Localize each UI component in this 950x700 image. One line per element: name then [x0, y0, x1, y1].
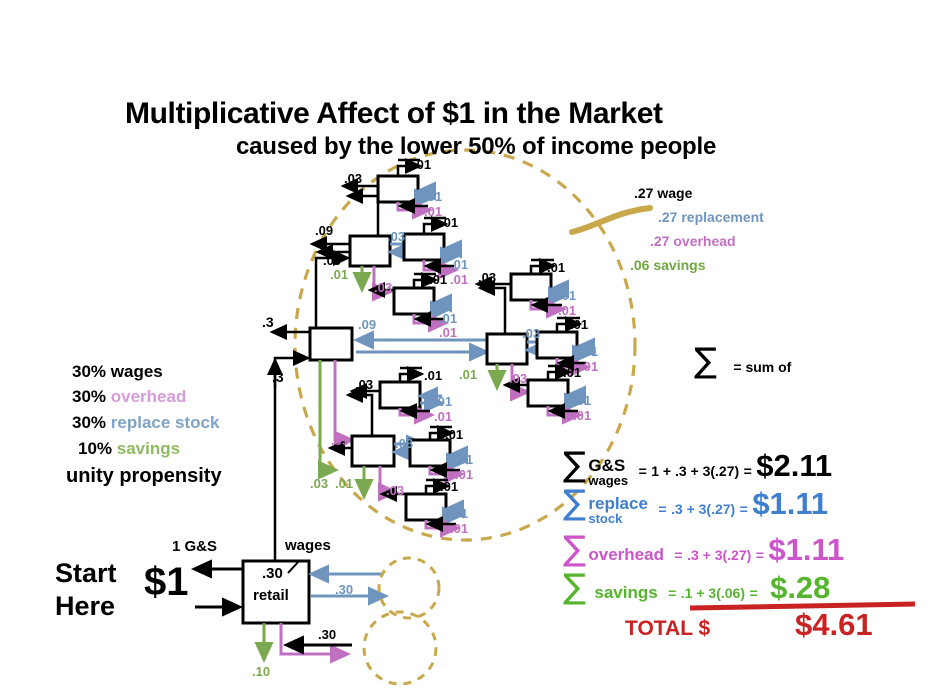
start-here-line2: Here [55, 593, 115, 620]
equation-wages-eq1: = [639, 463, 647, 479]
equation-savings-eq1: = [668, 585, 676, 601]
flow-label-r-n2-left: .03 [522, 327, 540, 340]
flow-label-l-n2-left: .03 [395, 437, 413, 450]
flow-label-u-n2-right: .01 [450, 258, 468, 271]
callout-replacement-value: .27 [658, 209, 677, 225]
node-lower-mid [352, 436, 394, 466]
equation-replace-stock-label: replace [588, 495, 648, 512]
root-overhead-line [335, 360, 352, 440]
legend-pct-replace-stock: 30% [72, 413, 106, 432]
callout-wage: .27 wage [634, 186, 692, 200]
retail-out-right: .30 [335, 583, 353, 596]
equation-overhead: ∑ overhead = .3 + 3(.27) = $1.11 [563, 532, 844, 566]
callout-connector [572, 208, 650, 232]
circle-upper-loop [379, 558, 439, 618]
sum-key-text: = sum of [733, 359, 791, 375]
callout-replacement-label: replacement [681, 209, 763, 225]
sigma-icon: ∑ [694, 341, 717, 381]
equation-overhead-sigma: ∑ [563, 529, 586, 569]
node-lower-leaf-2 [410, 440, 450, 466]
flow-label-root-in: .3 [272, 370, 284, 384]
legend-label-replace-stock: replace stock [111, 413, 220, 432]
retail-name: retail [253, 588, 289, 603]
flow-label-root-blue: .09 [358, 318, 376, 331]
callout-savings-label: savings [653, 257, 705, 273]
total-label: TOTAL $ [625, 618, 710, 639]
equation-replace-stock-sublabel: stock [588, 512, 648, 525]
equation-wages-eq2: = [744, 463, 752, 479]
legend-pct-overhead: 30% [72, 387, 106, 406]
retail-overhead-out [281, 623, 348, 654]
flow-label-r-n1-left: .03 [478, 271, 496, 284]
sum-key: ∑ = sum of [694, 344, 791, 378]
legend-row-wages: 30% wages [72, 363, 163, 380]
flow-label-l-n3-left: .03 [386, 484, 404, 497]
flow-label-l-n0-left: .09 [331, 434, 349, 447]
callout-replacement: .27 replacement [658, 210, 764, 224]
equation-savings-label: savings [594, 583, 657, 602]
flow-label-l-n2-right: .01 [455, 453, 473, 466]
equation-wages-sublabel: wages [588, 474, 628, 487]
equation-wages-sigma: ∑ [563, 445, 586, 485]
flow-label-r-n3-left: .03 [509, 372, 527, 385]
wages-label: wages [285, 538, 331, 553]
flow-label-l-n0-sav1: .03 [310, 477, 328, 490]
flow-label-u-n1-left: .03 [344, 172, 362, 185]
flow-label-u-n2-top: .01 [440, 216, 458, 229]
flow-label-l-n0-sav2: .01 [335, 477, 353, 490]
flow-label-r-n1-top: .01 [547, 261, 565, 274]
callout-overhead-label: overhead [673, 233, 735, 249]
node-lower-leaf-3 [406, 494, 446, 520]
node-upper-leaf-1 [378, 176, 418, 202]
equation-replace-stock-sigma: ∑ [563, 483, 586, 523]
node-upper-leaf-2 [404, 234, 444, 260]
flow-label-u-n1-top: .01 [413, 158, 431, 171]
legend-label-overhead: overhead [111, 387, 187, 406]
flow-label-u-n2-left: .03 [387, 230, 405, 243]
legend-row-savings: 10% savings [78, 440, 180, 457]
retail-out-bottom: .30 [318, 628, 336, 641]
node-right-mid [487, 334, 527, 364]
equation-wages-value: $2.11 [756, 448, 832, 483]
start-amount: $1 [144, 562, 189, 602]
flow-label-r-n0-sav: .01 [459, 368, 477, 381]
total-value: $4.61 [795, 609, 873, 640]
node-right-leaf-3 [528, 380, 568, 406]
circle-lower-loop [364, 612, 436, 684]
equation-savings-expr: .1 + 3(.06) [681, 585, 745, 601]
diagram-canvas: Multiplicative Affect of $1 in the Marke… [0, 0, 950, 700]
flow-label-u-n0-left2: .09 [323, 254, 341, 267]
equation-overhead-value: $1.11 [768, 532, 844, 567]
equation-replace-stock-eq2: = [740, 501, 748, 517]
page-title: Multiplicative Affect of $1 in the Marke… [125, 99, 663, 129]
callout-overhead: .27 overhead [650, 234, 736, 248]
equation-wages: ∑ G&S wages = 1 + .3 + 3(.27) = $2.11 [563, 448, 832, 487]
node-lower-leaf-1 [380, 382, 420, 408]
legend-label-savings: savings [117, 439, 180, 458]
equation-wages-label: G&S [588, 457, 628, 474]
flow-label-l-n1-right: .01 [434, 395, 452, 408]
flow-label-l-n1-top: .01 [424, 369, 442, 382]
flow-label-u-n3-left: .03 [374, 281, 392, 294]
equation-replace-stock-value: $1.11 [752, 486, 828, 521]
equation-savings-value: $.28 [770, 570, 830, 605]
equation-overhead-eq2: = [756, 547, 764, 563]
flow-label-l-n3-bot: .01 [450, 522, 468, 535]
flow-label-u-n0-sav: .01 [330, 268, 348, 281]
flow-label-u-n3-bot: .01 [439, 326, 457, 339]
retail-savings-label: .10 [252, 665, 270, 678]
root-right-blue-link [356, 340, 487, 352]
equation-replace-stock-eq1: = [658, 501, 666, 517]
node-upper-leaf-3 [394, 288, 434, 314]
flow-label-l-n1-left: .03 [355, 378, 373, 391]
equation-wages-expr: 1 + .3 + 3(.27) [651, 463, 739, 479]
equation-savings-eq2: = [749, 585, 757, 601]
equation-replace-stock: ∑ replace stock = .3 + 3(.27) = $1.11 [563, 486, 828, 525]
flow-label-l-n3-right: .01 [450, 507, 468, 520]
legend-row-overhead: 30% overhead [72, 388, 186, 405]
callout-savings: .06 savings [630, 258, 706, 272]
legend-row-replace-stock: 30% replace stock [72, 414, 219, 431]
equation-savings-sigma: ∑ [563, 567, 586, 607]
flow-label-r-n3-right: .01 [573, 394, 591, 407]
flow-label-root-out: .3 [262, 315, 274, 329]
equation-savings: ∑ savings = .1 + 3(.06) = $.28 [563, 570, 830, 604]
legend-label-wages: wages [111, 362, 163, 381]
flow-label-r-n2-top: .01 [570, 318, 588, 331]
gs-label: 1 G&S [172, 539, 217, 554]
equation-overhead-eq1: = [674, 547, 682, 563]
flow-label-u-n0-left: .09 [315, 224, 333, 237]
page-subtitle: caused by the lower 50% of income people [236, 135, 716, 159]
flow-label-l-n1-bot: .01 [434, 410, 452, 423]
callout-wage-label: wage [657, 185, 692, 201]
flow-label-r-n3-top: .01 [563, 366, 581, 379]
flow-label-u-n3-right: .01 [439, 312, 457, 325]
retail-value: .30 [262, 566, 283, 581]
legend-pct-savings: 10% [78, 439, 112, 458]
callout-wage-value: .27 [634, 185, 653, 201]
legend-pct-wages: 30% [72, 362, 106, 381]
callout-savings-value: .06 [630, 257, 649, 273]
node-root [310, 328, 352, 360]
flow-label-r-n1-right: .01 [558, 289, 576, 302]
flow-label-r-n1-bot: .01 [558, 304, 576, 317]
flow-label-u-n3-top: .01 [429, 273, 447, 286]
legend-footer: unity propensity [66, 466, 222, 486]
flow-label-u-n1-right: .01 [424, 190, 442, 203]
node-upper-mid [350, 236, 390, 266]
flow-label-u-n2-bot: .01 [450, 273, 468, 286]
node-right-leaf-1 [511, 274, 551, 300]
start-here-line1: Start [55, 560, 117, 587]
equation-overhead-expr: .3 + 3(.27) [687, 547, 751, 563]
equation-replace-stock-expr: .3 + 3(.27) [671, 501, 735, 517]
flow-label-l-n3-top: .01 [440, 480, 458, 493]
flow-label-r-n3-bot: .01 [573, 409, 591, 422]
flow-label-l-n2-top: .01 [445, 428, 463, 441]
node-right-leaf-2 [537, 332, 577, 358]
flow-label-r-n2-right: .01 [580, 345, 598, 358]
main-spine [272, 332, 313, 565]
callout-overhead-value: .27 [650, 233, 669, 249]
equation-overhead-label: overhead [588, 545, 664, 564]
flow-label-r-n2-bot: .01 [580, 360, 598, 373]
